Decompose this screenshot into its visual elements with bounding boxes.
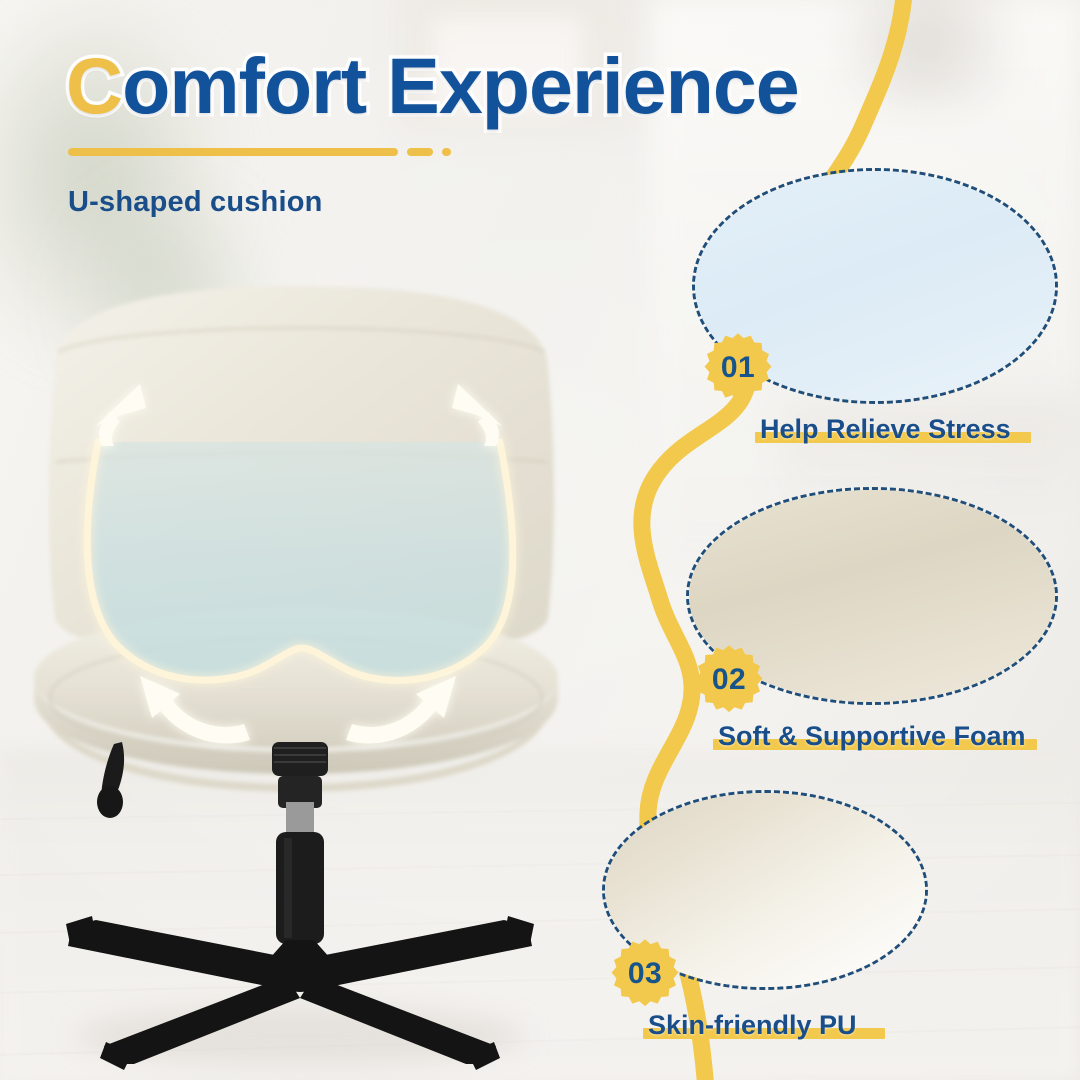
hero-chair-image	[0, 246, 640, 1080]
feature-01-number: 01	[721, 351, 755, 385]
feature-03-badge: 03	[608, 937, 682, 1011]
feature-02-label: Soft & Supportive Foam	[718, 721, 1026, 751]
chair-illustration	[0, 246, 640, 1080]
height-lever	[97, 742, 124, 818]
gas-cylinder	[272, 742, 328, 944]
page-title: Comfort Experience	[66, 46, 1026, 125]
feature-02-number: 02	[712, 663, 746, 697]
u-shape-overlay	[87, 442, 513, 680]
feature-01-caption: Help Relieve Stress	[760, 414, 1011, 445]
title-block: Comfort Experience	[66, 46, 1026, 125]
title-divider	[68, 148, 451, 156]
feature-03-caption: Skin-friendly PU	[648, 1010, 857, 1041]
divider-dot	[442, 148, 451, 156]
feature-01-badge: 01	[701, 331, 775, 405]
feature-03-number: 03	[628, 957, 662, 991]
divider-segment-long	[68, 148, 398, 156]
feature-02-caption: Soft & Supportive Foam	[718, 721, 1026, 752]
divider-segment-short	[407, 148, 433, 156]
title-lead-letter: C	[66, 41, 122, 130]
page-subtitle: U-shaped cushion	[68, 186, 323, 219]
feature-03-label: Skin-friendly PU	[648, 1010, 857, 1040]
feature-01-label: Help Relieve Stress	[760, 414, 1011, 444]
feature-02-badge: 02	[692, 643, 766, 717]
title-remainder: omfort Experience	[122, 41, 799, 130]
infographic-canvas: Comfort Experience U-shaped cushion	[0, 0, 1080, 1080]
